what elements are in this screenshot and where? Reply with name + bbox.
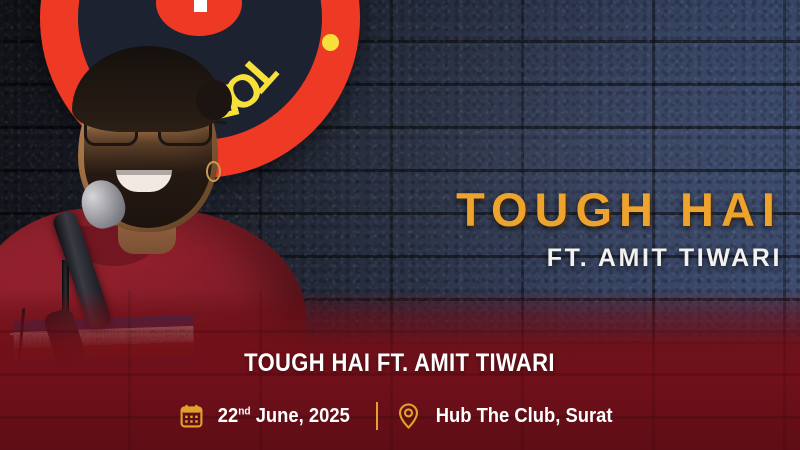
- event-venue-text: Hub The Club, Surat: [435, 406, 612, 426]
- meta-divider: [376, 402, 378, 430]
- calendar-icon: [180, 404, 203, 428]
- location-pin-icon: [398, 403, 419, 429]
- event-title: TOUGH HAI FT. AMIT TIWARI: [245, 351, 556, 376]
- wall-title-main: TOUGH HAI: [456, 186, 782, 233]
- event-date-ordinal: nd: [238, 405, 250, 417]
- wall-show-title: TOUGH HAI FT. AMIT TIWARI: [456, 186, 782, 271]
- wall-title-sub: FT. AMIT TIWARI: [456, 246, 782, 271]
- performer-hair-bun: [196, 80, 232, 120]
- event-venue: Hub The Club, Surat: [398, 403, 620, 429]
- event-date: 22nd June, 2025: [180, 404, 356, 428]
- event-date-rest: June, 2025: [251, 405, 350, 427]
- event-meta: 22nd June, 2025 Hub The Club, Surat: [180, 402, 620, 430]
- bottom-band-content: TOUGH HAI FT. AMIT TIWARI 22nd June, 202…: [0, 290, 800, 450]
- event-date-text: 22nd June, 2025: [218, 406, 350, 426]
- event-date-day: 22: [218, 405, 238, 427]
- event-poster: T O R E TOMMY HILFIGER: [0, 0, 800, 450]
- performer-earring: [206, 161, 221, 182]
